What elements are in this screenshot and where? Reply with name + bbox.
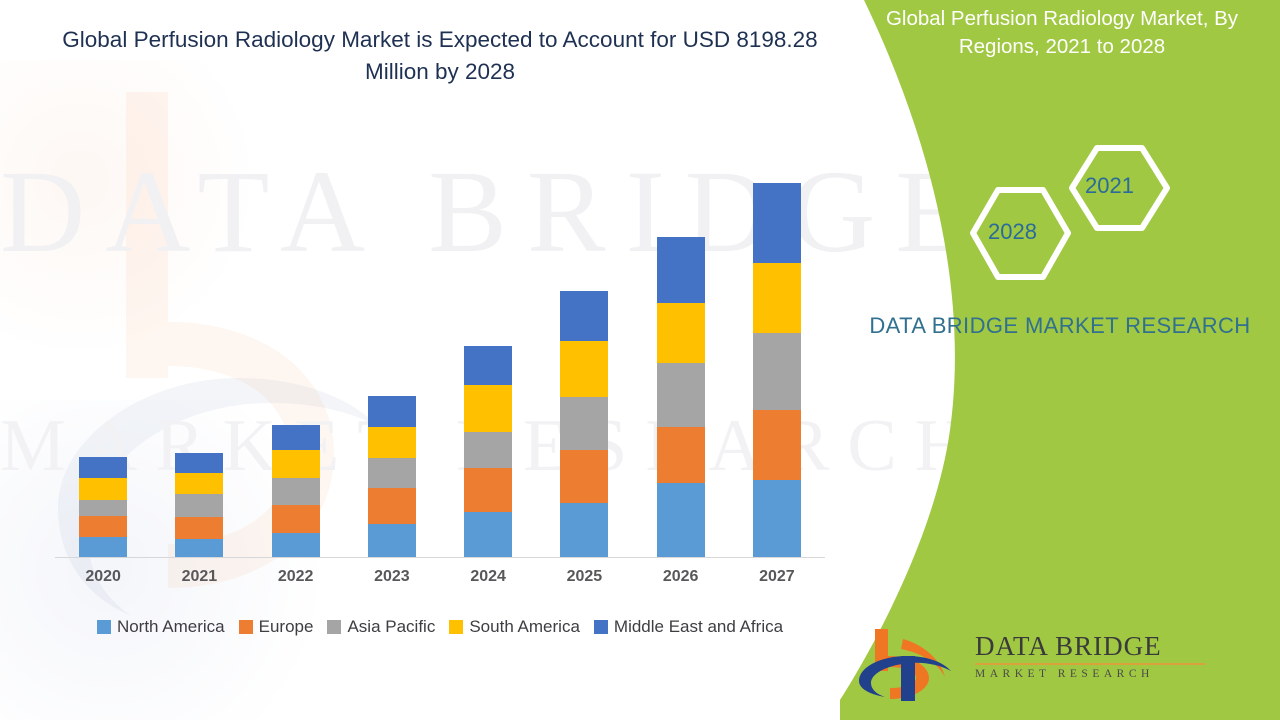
x-axis-tick-label: 2022 (248, 568, 344, 586)
x-axis-line (55, 557, 825, 558)
bar-column[interactable] (248, 120, 344, 557)
chart-legend: North AmericaEuropeAsia PacificSouth Ame… (55, 617, 825, 637)
bar-segment[interactable] (272, 425, 320, 450)
x-axis-labels: 20202021202220232024202520262027 (55, 568, 825, 586)
legend-item[interactable]: Europe (239, 617, 314, 637)
bar-segment[interactable] (464, 346, 512, 385)
legend-label: Middle East and Africa (614, 617, 783, 637)
legend-swatch (449, 620, 463, 634)
x-axis-tick-label: 2023 (344, 568, 440, 586)
databridge-wordmark: DATA BRIDGE MARKET RESEARCH (975, 633, 1205, 681)
bar-segment[interactable] (657, 427, 705, 483)
bar-segment[interactable] (79, 478, 127, 500)
legend-item[interactable]: South America (449, 617, 580, 637)
bar-segment[interactable] (657, 483, 705, 557)
hexagon-label-2021: 2021 (1085, 173, 1134, 199)
bar-segment[interactable] (753, 333, 801, 410)
bar-segment[interactable] (79, 516, 127, 537)
bar-column[interactable] (729, 120, 825, 557)
x-axis-tick-label: 2021 (151, 568, 247, 586)
bar-column[interactable] (344, 120, 440, 557)
bar-segment[interactable] (79, 500, 127, 516)
bar-stack (79, 457, 127, 557)
legend-label: Europe (259, 617, 314, 637)
bar-stack (560, 291, 608, 557)
bar-column[interactable] (536, 120, 632, 557)
x-axis-tick-label: 2026 (633, 568, 729, 586)
logo-sub-text: MARKET RESEARCH (975, 669, 1205, 681)
bar-segment[interactable] (753, 480, 801, 557)
bar-segment[interactable] (272, 533, 320, 557)
legend-swatch (594, 620, 608, 634)
bar-segment[interactable] (368, 458, 416, 488)
x-axis-tick-label: 2025 (536, 568, 632, 586)
legend-item[interactable]: Middle East and Africa (594, 617, 783, 637)
bar-column[interactable] (55, 120, 151, 557)
legend-item[interactable]: North America (97, 617, 225, 637)
legend-label: Asia Pacific (347, 617, 435, 637)
logo-divider (975, 663, 1205, 665)
bar-segment[interactable] (560, 341, 608, 397)
legend-label: South America (469, 617, 580, 637)
legend-label: North America (117, 617, 225, 637)
bar-segment[interactable] (464, 432, 512, 468)
bar-group (55, 120, 825, 557)
bar-segment[interactable] (79, 537, 127, 557)
bar-segment[interactable] (175, 494, 223, 517)
bar-stack (272, 425, 320, 557)
legend-item[interactable]: Asia Pacific (327, 617, 435, 637)
bar-column[interactable] (633, 120, 729, 557)
bar-stack (753, 183, 801, 557)
bar-segment[interactable] (272, 450, 320, 478)
branding-panel: Global Perfusion Radiology Market, By Re… (840, 0, 1280, 720)
bar-segment[interactable] (368, 524, 416, 557)
databridge-mark-icon (855, 625, 970, 703)
green-panel-shape (840, 0, 1280, 720)
plot-area (55, 120, 825, 558)
bar-segment[interactable] (560, 291, 608, 341)
x-axis-tick-label: 2020 (55, 568, 151, 586)
bar-stack (657, 237, 705, 557)
bar-segment[interactable] (560, 450, 608, 503)
bar-segment[interactable] (175, 539, 223, 557)
bar-segment[interactable] (753, 410, 801, 480)
bar-segment[interactable] (560, 503, 608, 557)
bar-segment[interactable] (175, 473, 223, 494)
bar-segment[interactable] (657, 303, 705, 363)
bar-segment[interactable] (464, 512, 512, 557)
bar-stack (175, 453, 223, 557)
brand-name-text: DATA BRIDGE MARKET RESEARCH (860, 310, 1260, 342)
bar-stack (368, 396, 416, 557)
databridge-logo: DATA BRIDGE MARKET RESEARCH (855, 625, 1275, 705)
bar-segment[interactable] (368, 396, 416, 427)
logo-main-text: DATA BRIDGE (975, 633, 1205, 660)
legend-swatch (239, 620, 253, 634)
legend-swatch (97, 620, 111, 634)
bar-column[interactable] (151, 120, 247, 557)
chart-panel: DATA BRIDGE MARKET RESEARCH Global Perfu… (0, 0, 960, 720)
bar-segment[interactable] (79, 457, 127, 478)
bar-segment[interactable] (753, 263, 801, 333)
bar-stack (464, 346, 512, 557)
bar-segment[interactable] (657, 237, 705, 303)
bar-segment[interactable] (272, 478, 320, 505)
hexagon-group: 2021 2028 (950, 140, 1180, 290)
bar-segment[interactable] (368, 427, 416, 458)
x-axis-tick-label: 2024 (440, 568, 536, 586)
bar-segment[interactable] (657, 363, 705, 427)
chart-title: Global Perfusion Radiology Market is Exp… (60, 24, 820, 88)
bar-segment[interactable] (753, 183, 801, 263)
bar-column[interactable] (440, 120, 536, 557)
hexagon-label-2028: 2028 (988, 219, 1037, 245)
bar-segment[interactable] (175, 453, 223, 473)
bar-segment[interactable] (464, 468, 512, 512)
bar-segment[interactable] (272, 505, 320, 533)
bar-segment[interactable] (560, 397, 608, 450)
hexagon-shapes-icon (950, 140, 1180, 290)
panel-title: Global Perfusion Radiology Market, By Re… (862, 5, 1262, 62)
bar-segment[interactable] (175, 517, 223, 539)
legend-swatch (327, 620, 341, 634)
bar-segment[interactable] (368, 488, 416, 524)
bar-segment[interactable] (464, 385, 512, 432)
x-axis-tick-label: 2027 (729, 568, 825, 586)
